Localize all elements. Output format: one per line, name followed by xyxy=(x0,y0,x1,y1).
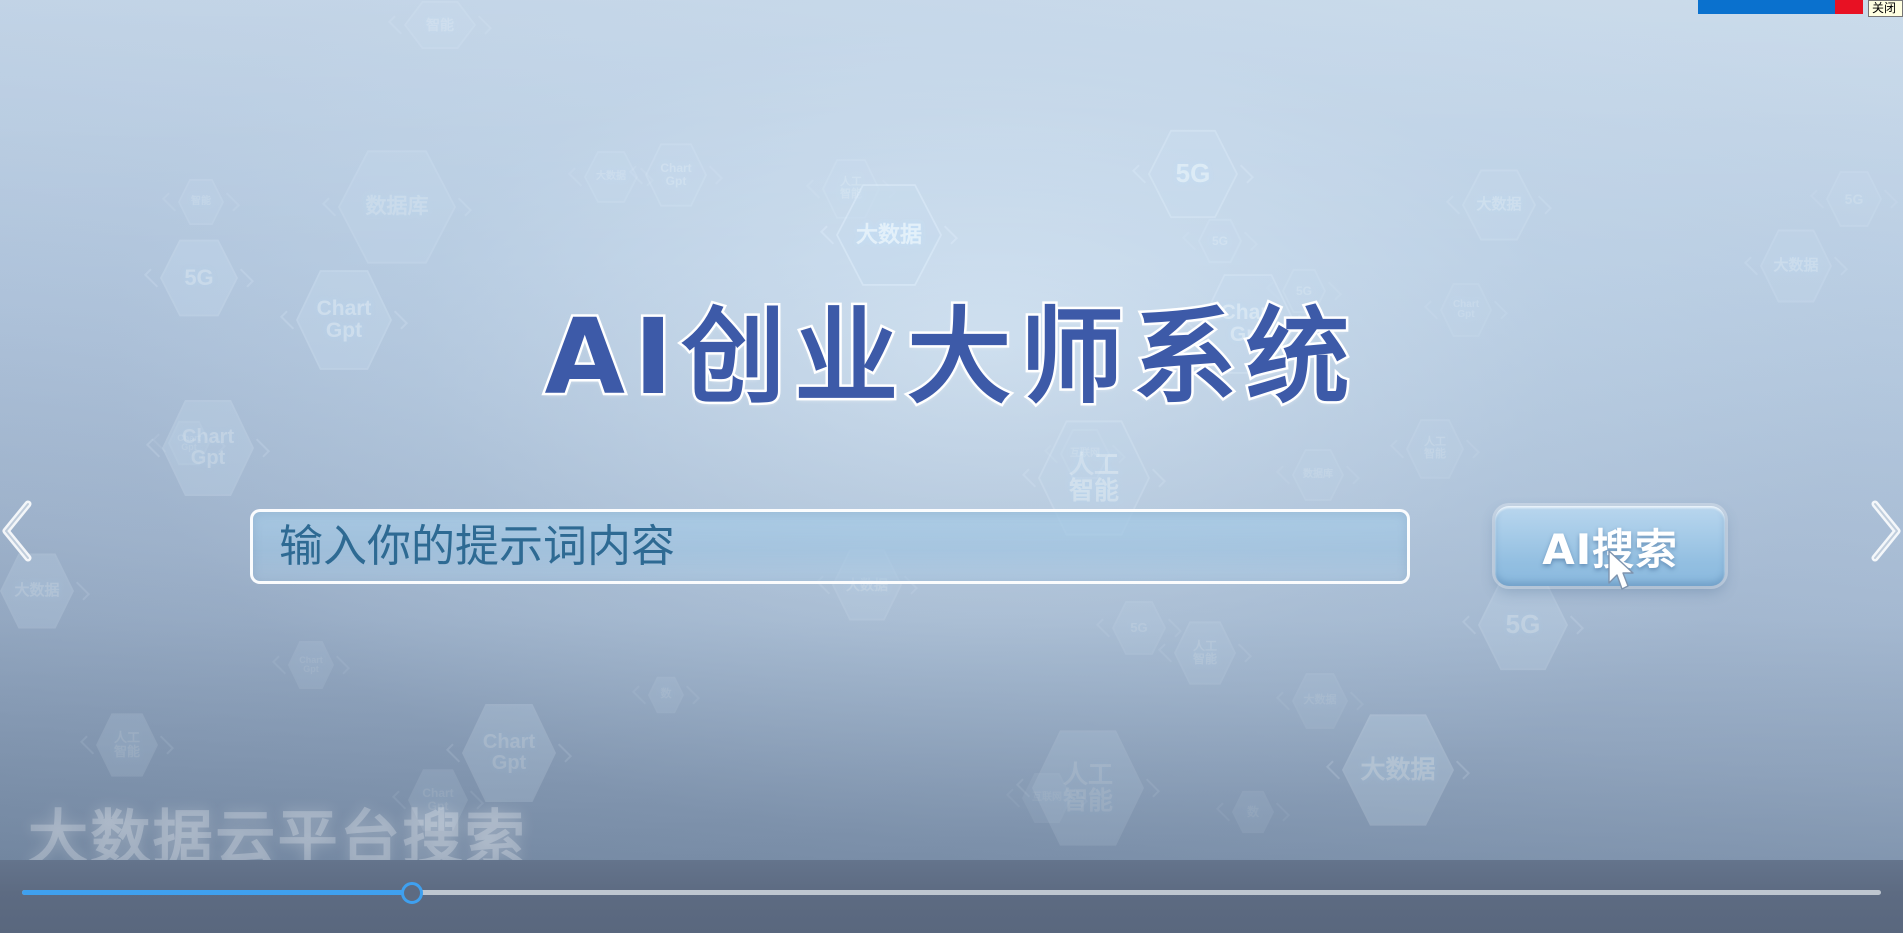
search-row: AI搜索 xyxy=(0,506,1903,586)
decoration-hexagon-label: 数 xyxy=(1232,790,1274,834)
video-player-canvas[interactable]: 数据库大数据Chart Gpt人工 智能大数据5G大数据智能5G5G5GChar… xyxy=(0,0,1903,860)
decoration-hexagon: 5G xyxy=(1478,578,1568,672)
decoration-hexagon-label: 5G xyxy=(1826,170,1882,228)
decoration-hexagon-label: 大数据 xyxy=(1462,168,1536,242)
decoration-hexagon-label: Chart Gpt xyxy=(645,142,707,208)
decoration-hexagon-label: 大数据 xyxy=(1342,712,1454,828)
decoration-hexagon-label: Chart Gpt xyxy=(462,702,556,804)
decoration-hexagon-label: 数 xyxy=(648,676,684,714)
search-input[interactable] xyxy=(250,509,1410,584)
decoration-hexagon: 人工 智能 xyxy=(1032,728,1144,848)
app-window: 数据库大数据Chart Gpt人工 智能大数据5G大数据智能5G5G5GChar… xyxy=(0,0,1903,933)
decoration-hexagon-label: Chart Gpt xyxy=(288,640,334,690)
decoration-hexagon-label: 数据库 xyxy=(1292,448,1344,502)
decoration-hexagon: 5G xyxy=(1198,218,1242,264)
decoration-hexagon: 人工 智能 xyxy=(822,158,880,220)
decoration-hexagon: 互联网 xyxy=(1060,428,1110,480)
decoration-hexagon: 人工 智能 xyxy=(1174,620,1236,686)
decoration-hexagon: 数据库 xyxy=(1292,448,1344,502)
decoration-hexagon: Chart Gpt xyxy=(288,640,334,690)
background-haze-overlay xyxy=(0,0,1903,860)
decoration-hexagon: 智能 xyxy=(404,0,476,50)
ai-search-button[interactable]: AI搜索 xyxy=(1495,506,1725,586)
decoration-hexagon-label: 数据库 xyxy=(338,148,456,266)
decoration-hexagon-label: Chart Gpt xyxy=(168,420,210,466)
decoration-hexagon-label: Chart Gpt xyxy=(408,768,468,832)
decoration-hexagon-label: 5G xyxy=(1478,578,1568,672)
decoration-hexagon: 数 xyxy=(1232,790,1274,834)
window-chrome-overlay: 关闭 xyxy=(1698,0,1903,14)
decoration-hexagon: 5G xyxy=(1826,170,1882,228)
decoration-hexagon: Chart Gpt xyxy=(462,702,556,804)
decoration-hexagon-label: 智能 xyxy=(178,178,224,226)
decoration-hexagon-label: 5G xyxy=(1148,128,1238,220)
decoration-hexagon: 大数据 xyxy=(1462,168,1536,242)
decoration-hexagon: 数据库 xyxy=(338,148,456,266)
decoration-hexagon-label: 互联网 xyxy=(1060,428,1110,480)
carousel-prev-arrow-icon[interactable] xyxy=(0,494,42,568)
decoration-hexagon-label: 人工 智能 xyxy=(1406,418,1464,480)
decoration-hexagon-label: 5G xyxy=(1198,218,1242,264)
decoration-hexagon-label: 人工 智能 xyxy=(822,158,880,220)
decoration-hexagon-label: 大数据 xyxy=(1292,672,1348,730)
decoration-hexagon: 5G xyxy=(1112,600,1166,656)
carousel-next-arrow-icon[interactable] xyxy=(1861,494,1903,568)
decoration-hexagon: 人工 智能 xyxy=(96,712,158,778)
decoration-hexagon: Chart Gpt xyxy=(645,142,707,208)
video-progress-slider[interactable] xyxy=(22,884,1881,902)
decoration-hexagon: 互联网 xyxy=(1022,772,1072,824)
decoration-hexagon-label: 互联网 xyxy=(1022,772,1072,824)
decoration-hexagon: 智能 xyxy=(178,178,224,226)
decoration-hexagon: 人工 智能 xyxy=(1406,418,1464,480)
close-tooltip: 关闭 xyxy=(1868,0,1903,17)
progress-fill xyxy=(22,890,412,895)
close-button[interactable] xyxy=(1835,0,1863,14)
decoration-hexagon-label: 人工 智能 xyxy=(1032,728,1144,848)
decoration-hexagon: 5G xyxy=(1148,128,1238,220)
decoration-hexagon: 数 xyxy=(648,676,684,714)
decoration-hexagon: 大数据 xyxy=(1292,672,1348,730)
decoration-hexagon: 大数据 xyxy=(584,150,638,204)
decoration-hexagon-label: 人工 智能 xyxy=(1174,620,1236,686)
background-watermark-text: 大数据云平台搜索 xyxy=(28,790,527,860)
decoration-hexagon: 大数据 xyxy=(1342,712,1454,828)
decoration-hexagon: Chart Gpt xyxy=(168,420,210,466)
decoration-hexagon-label: 大数据 xyxy=(584,150,638,204)
decoration-hexagon-label: 人工 智能 xyxy=(96,712,158,778)
video-player-controls xyxy=(0,860,1903,933)
decoration-hexagon: Chart Gpt xyxy=(408,768,468,832)
titlebar-blue-strip xyxy=(1698,0,1835,14)
decoration-hexagon-label: 智能 xyxy=(404,0,476,50)
page-title: AI创业大师系统 xyxy=(0,272,1903,423)
progress-thumb[interactable] xyxy=(401,882,423,904)
decoration-hexagon-label: 5G xyxy=(1112,600,1166,656)
